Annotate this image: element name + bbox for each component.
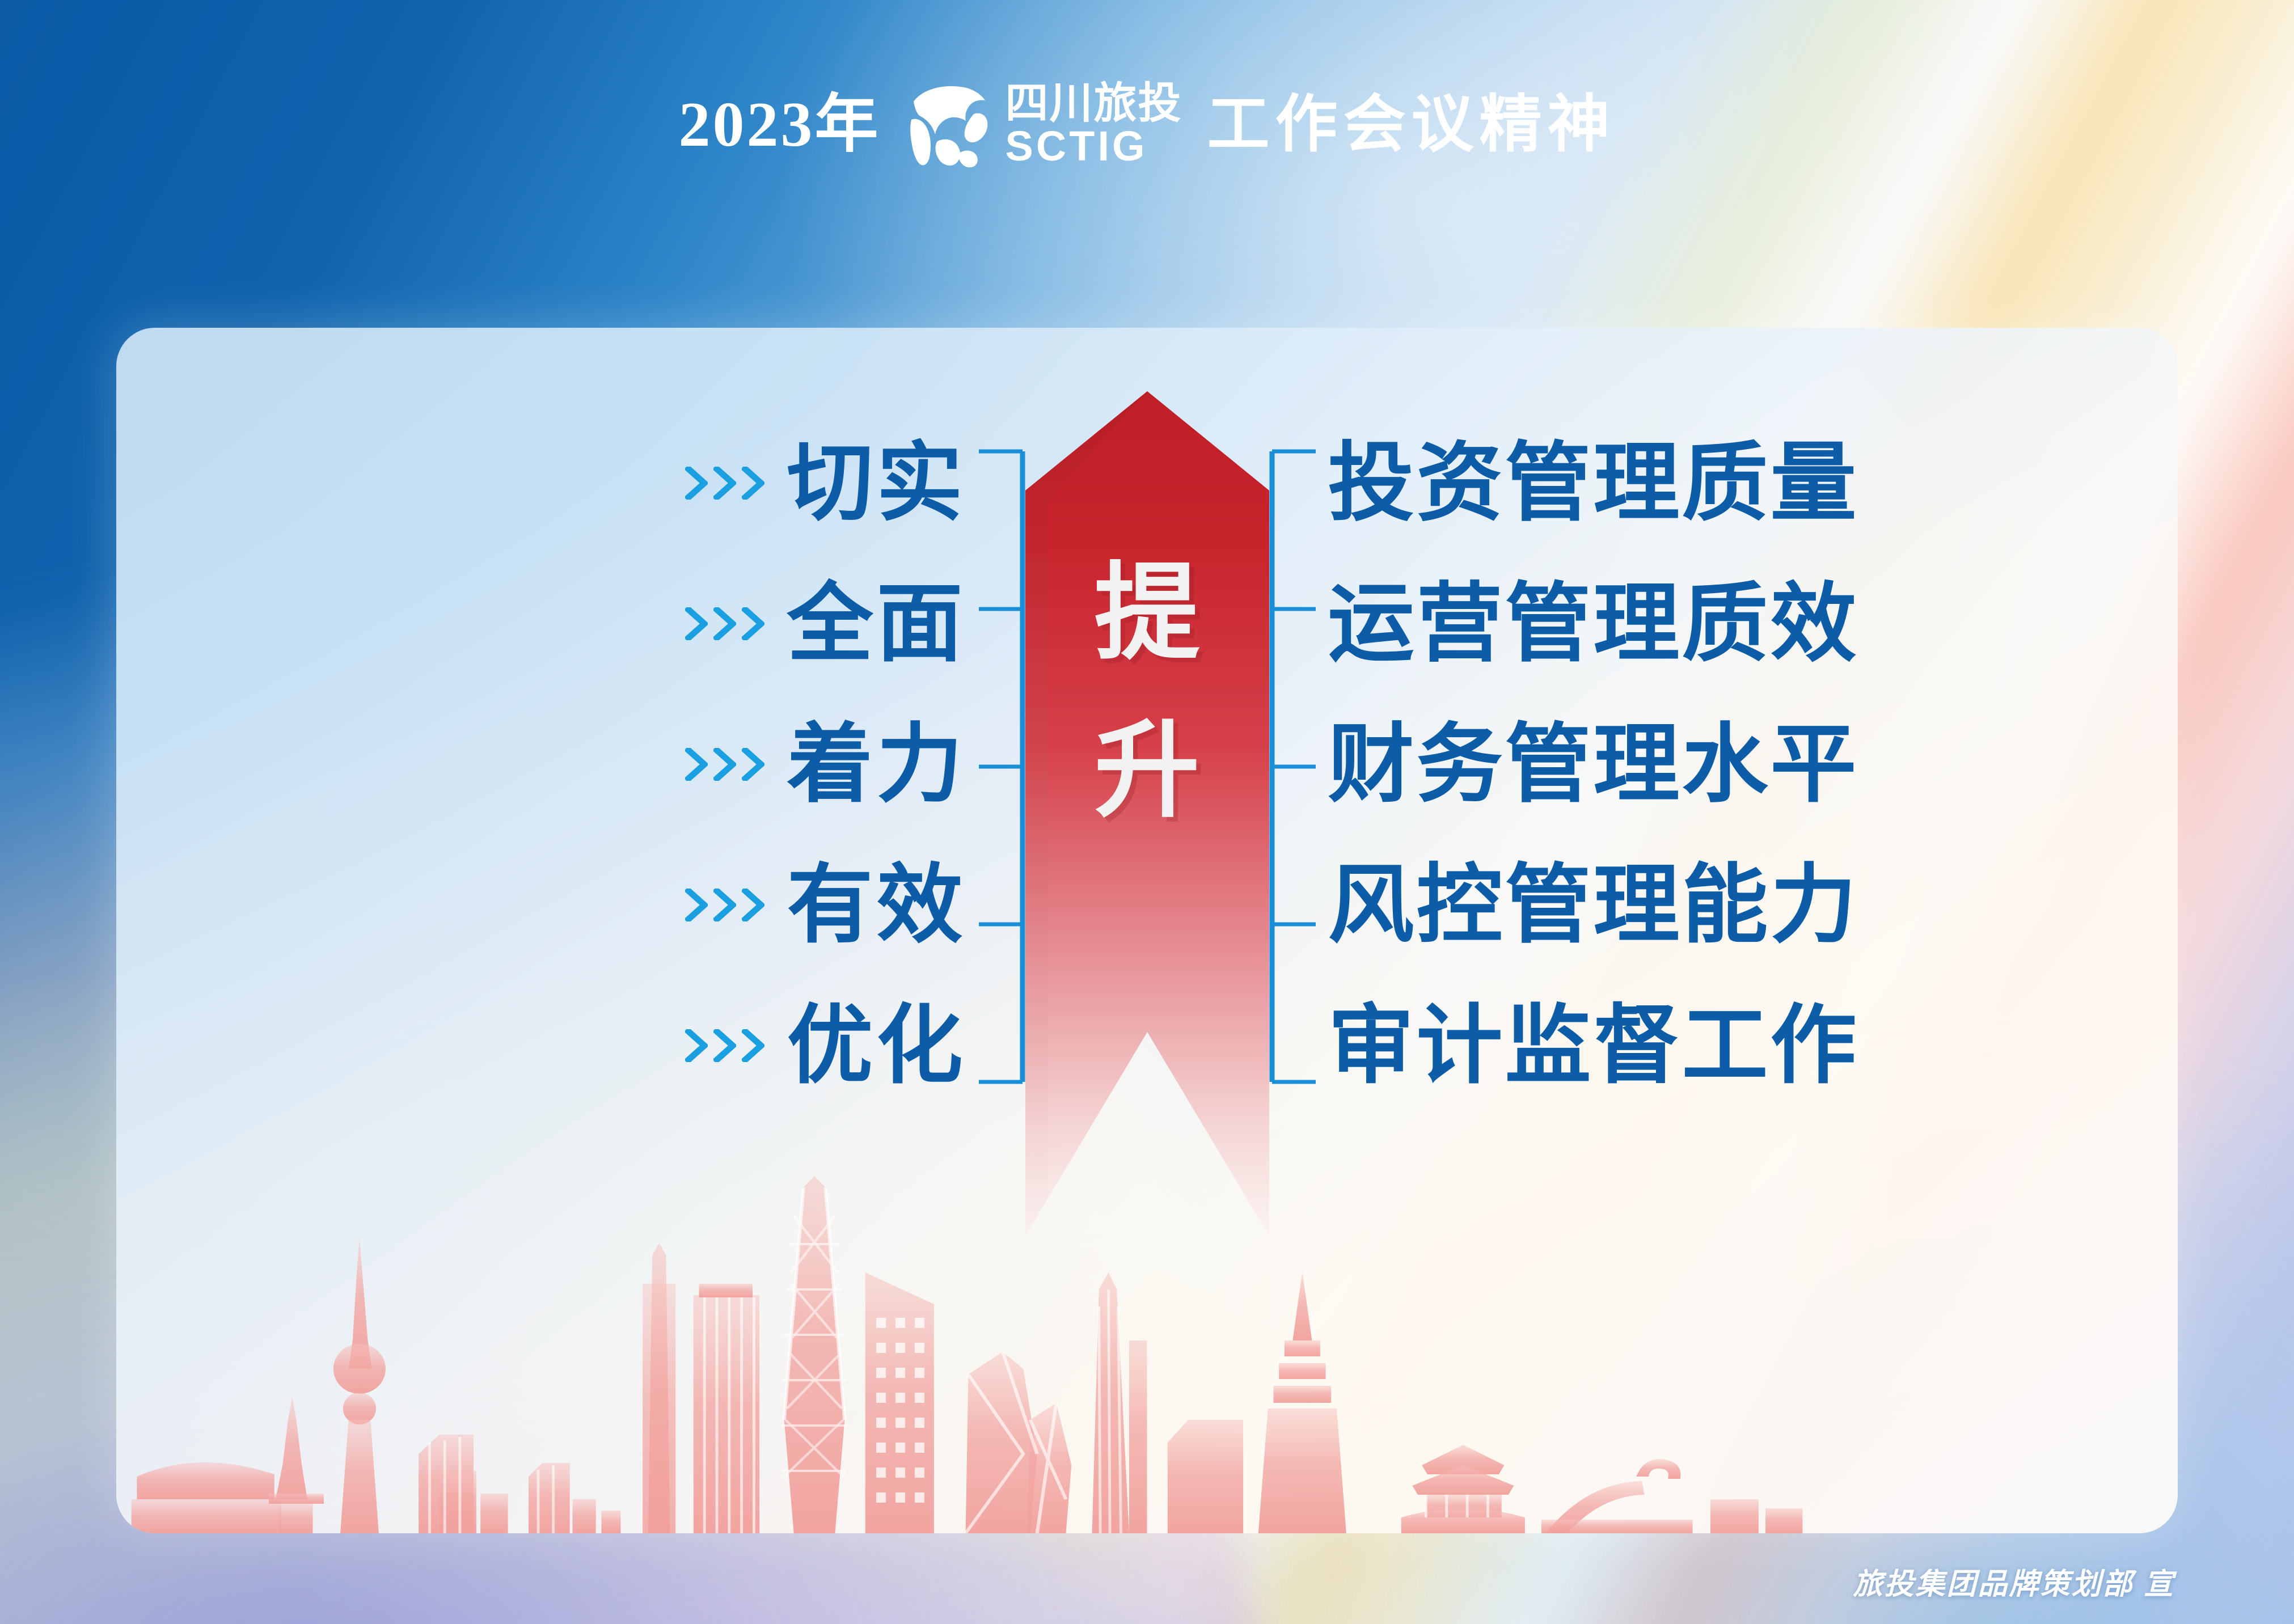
upward-arrow-ribbon-icon: 提 升 <box>1025 391 1269 1236</box>
chevron-marker-5 <box>685 1029 764 1062</box>
row-right-3: 财务管理水平 <box>1328 721 2178 807</box>
brand-logo: 四川旅投 SCTIG <box>906 82 1182 167</box>
row-right-2: 运营管理质效 <box>1328 581 2178 667</box>
row-left-4: 有效 <box>116 862 966 948</box>
row-right-4: 风控管理能力 <box>1328 862 2178 948</box>
row-right-1: 投资管理质量 <box>1328 440 2178 526</box>
row-left-word: 全面 <box>787 581 966 667</box>
row-left-5: 优化 <box>116 1003 966 1089</box>
brand-logo-chinese: 四川旅投 <box>1006 83 1182 125</box>
chevron-marker-3 <box>685 748 764 781</box>
brand-logo-english: SCTIG <box>1006 126 1148 167</box>
row-left-3: 着力 <box>116 721 966 807</box>
footer-credit: 旅投集团品牌策划部 宣 <box>1853 1560 2175 1602</box>
row-left-word: 切实 <box>787 440 966 526</box>
right-bracket-connector-icon <box>1269 449 1328 1084</box>
chevron-marker-4 <box>685 889 764 921</box>
row-right-word: 风控管理能力 <box>1328 862 1859 948</box>
poster-header: 2023年 四川旅投 SCTIG 工作会议精神 <box>0 68 2294 181</box>
row-right-word: 财务管理水平 <box>1328 721 1859 807</box>
row-left-2: 全面 <box>116 581 966 667</box>
brand-logo-wordmark: 四川旅投 SCTIG <box>1006 83 1182 167</box>
row-right-word: 审计监督工作 <box>1328 1003 1859 1089</box>
row-left-word: 优化 <box>787 1003 966 1089</box>
content-card: 提 升 <box>116 328 2178 1533</box>
poster-stage: 2023年 四川旅投 SCTIG 工作会议精神 <box>0 0 2294 1624</box>
panda-globe-logo-icon <box>906 82 991 167</box>
row-right-word: 运营管理质效 <box>1328 581 1859 667</box>
header-title: 工作会议精神 <box>1207 94 1616 156</box>
header-year: 2023年 <box>679 93 881 157</box>
chevron-marker-1 <box>685 467 764 500</box>
left-bracket-connector-icon <box>966 449 1025 1084</box>
row-left-word: 有效 <box>787 862 966 948</box>
row-right-word: 投资管理质量 <box>1328 440 1859 526</box>
row-left-1: 切实 <box>116 440 966 526</box>
chevron-marker-2 <box>685 607 764 640</box>
row-left-word: 着力 <box>787 721 966 807</box>
row-right-5: 审计监督工作 <box>1328 1003 2178 1089</box>
